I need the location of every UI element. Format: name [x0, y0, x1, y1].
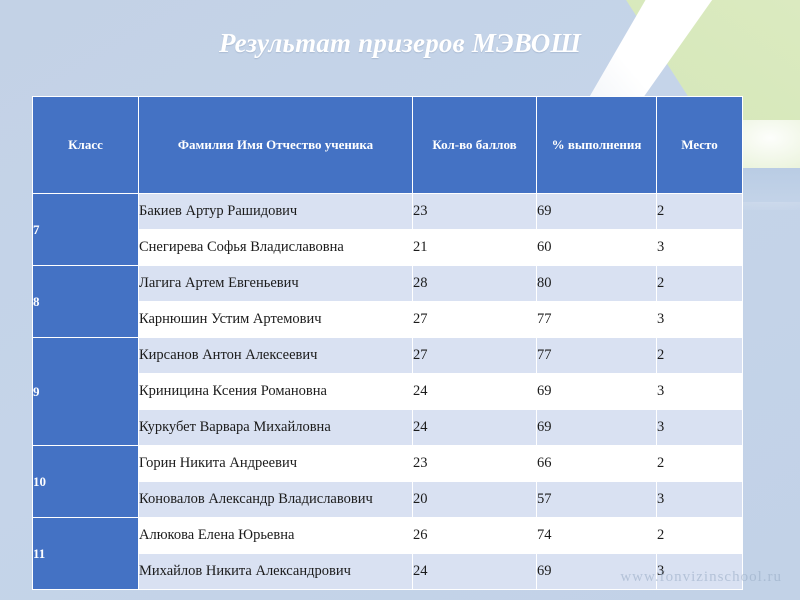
- place-cell: 3: [657, 374, 743, 410]
- results-table: Класс Фамилия Имя Отчество ученика Кол-в…: [32, 96, 743, 590]
- percent-cell: 80: [537, 266, 657, 302]
- class-group-cell: 11: [33, 518, 139, 590]
- results-table-container: Класс Фамилия Имя Отчество ученика Кол-в…: [32, 96, 742, 590]
- student-name-cell: Коновалов Александр Владиславович: [139, 482, 413, 518]
- table-row: Михайлов Никита Александрович24693: [33, 554, 743, 590]
- percent-cell: 74: [537, 518, 657, 554]
- score-cell: 23: [413, 446, 537, 482]
- place-cell: 3: [657, 230, 743, 266]
- slide-canvas: Результат призеров МЭВОШ Класс Фамилия И…: [0, 0, 800, 600]
- student-name-cell: Бакиев Артур Рашидович: [139, 194, 413, 230]
- column-header-class: Класс: [33, 97, 139, 194]
- student-name-cell: Криницина Ксения Романовна: [139, 374, 413, 410]
- score-cell: 21: [413, 230, 537, 266]
- column-header-name: Фамилия Имя Отчество ученика: [139, 97, 413, 194]
- percent-cell: 60: [537, 230, 657, 266]
- student-name-cell: Карнюшин Устим Артемович: [139, 302, 413, 338]
- column-header-score: Кол-во баллов: [413, 97, 537, 194]
- table-row: Криницина Ксения Романовна24693: [33, 374, 743, 410]
- percent-cell: 57: [537, 482, 657, 518]
- page-title: Результат призеров МЭВОШ: [0, 28, 800, 59]
- table-row: 10Горин Никита Андреевич23662: [33, 446, 743, 482]
- table-row: Коновалов Александр Владиславович20573: [33, 482, 743, 518]
- class-group-cell: 10: [33, 446, 139, 518]
- column-header-percent: % выполнения: [537, 97, 657, 194]
- table-header-row: Класс Фамилия Имя Отчество ученика Кол-в…: [33, 97, 743, 194]
- score-cell: 27: [413, 302, 537, 338]
- score-cell: 27: [413, 338, 537, 374]
- percent-cell: 69: [537, 194, 657, 230]
- table-header: Класс Фамилия Имя Отчество ученика Кол-в…: [33, 97, 743, 194]
- place-cell: 2: [657, 266, 743, 302]
- place-cell: 3: [657, 410, 743, 446]
- student-name-cell: Снегирева Софья Владиславовна: [139, 230, 413, 266]
- table-body: 7Бакиев Артур Рашидович23692Снегирева Со…: [33, 194, 743, 590]
- percent-cell: 77: [537, 302, 657, 338]
- column-header-place: Место: [657, 97, 743, 194]
- table-row: Куркубет Варвара Михайловна24693: [33, 410, 743, 446]
- student-name-cell: Куркубет Варвара Михайловна: [139, 410, 413, 446]
- table-row: 8Лагига Артем Евгеньевич28802: [33, 266, 743, 302]
- student-name-cell: Горин Никита Андреевич: [139, 446, 413, 482]
- place-cell: 2: [657, 194, 743, 230]
- score-cell: 24: [413, 410, 537, 446]
- place-cell: 3: [657, 554, 743, 590]
- percent-cell: 69: [537, 374, 657, 410]
- class-group-cell: 8: [33, 266, 139, 338]
- place-cell: 3: [657, 302, 743, 338]
- percent-cell: 77: [537, 338, 657, 374]
- place-cell: 2: [657, 338, 743, 374]
- score-cell: 26: [413, 518, 537, 554]
- table-row: 7Бакиев Артур Рашидович23692: [33, 194, 743, 230]
- place-cell: 3: [657, 482, 743, 518]
- table-row: Карнюшин Устим Артемович27773: [33, 302, 743, 338]
- table-row: Снегирева Софья Владиславовна21603: [33, 230, 743, 266]
- table-row: 9Кирсанов Антон Алексеевич27772: [33, 338, 743, 374]
- table-row: 11Алюкова Елена Юрьевна26742: [33, 518, 743, 554]
- score-cell: 23: [413, 194, 537, 230]
- score-cell: 28: [413, 266, 537, 302]
- percent-cell: 66: [537, 446, 657, 482]
- score-cell: 20: [413, 482, 537, 518]
- place-cell: 2: [657, 518, 743, 554]
- student-name-cell: Алюкова Елена Юрьевна: [139, 518, 413, 554]
- student-name-cell: Лагига Артем Евгеньевич: [139, 266, 413, 302]
- score-cell: 24: [413, 374, 537, 410]
- percent-cell: 69: [537, 554, 657, 590]
- student-name-cell: Кирсанов Антон Алексеевич: [139, 338, 413, 374]
- class-group-cell: 7: [33, 194, 139, 266]
- percent-cell: 69: [537, 410, 657, 446]
- class-group-cell: 9: [33, 338, 139, 446]
- score-cell: 24: [413, 554, 537, 590]
- student-name-cell: Михайлов Никита Александрович: [139, 554, 413, 590]
- place-cell: 2: [657, 446, 743, 482]
